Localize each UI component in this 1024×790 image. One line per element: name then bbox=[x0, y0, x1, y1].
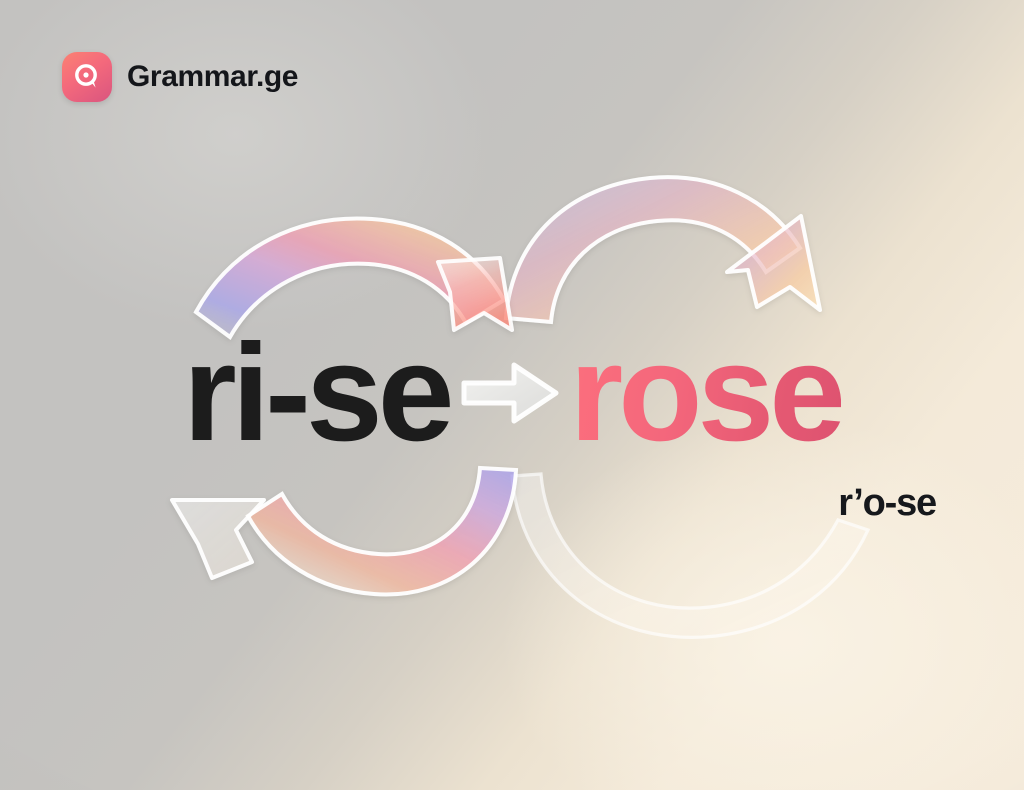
vignette-overlay bbox=[0, 0, 1024, 790]
image-canvas: Grammar.ge ri-se rose r’o-se bbox=[0, 0, 1024, 790]
